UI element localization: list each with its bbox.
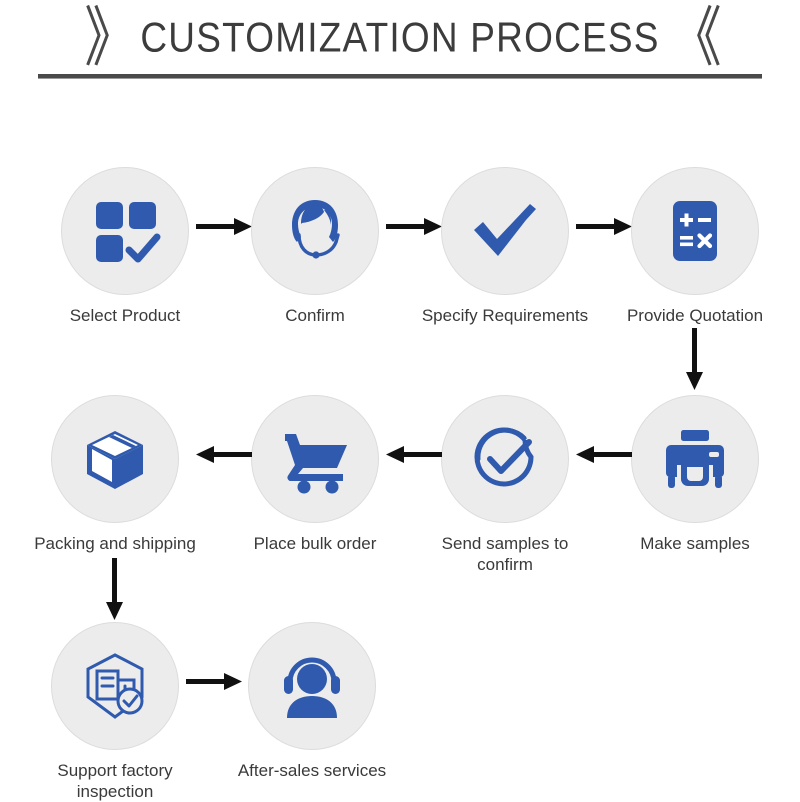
step-label: Support factory inspection <box>25 760 205 802</box>
step-label: Packing and shipping <box>25 533 205 554</box>
flow-step-after-sales-services[interactable]: After-sales services <box>222 622 402 781</box>
flow-step-specify-requirements[interactable]: Specify Requirements <box>415 167 595 326</box>
step-label: Place bulk order <box>225 533 405 554</box>
step-label: Make samples <box>605 533 785 554</box>
connector-arrow-down-1 <box>683 328 707 390</box>
step-label: Provide Quotation <box>605 305 785 326</box>
connector-arrow-down-2 <box>103 558 127 620</box>
step-label: Select Product <box>35 305 215 326</box>
step-label: Send samples to confirm <box>415 533 595 575</box>
step-label: After-sales services <box>222 760 402 781</box>
shopping-cart-icon <box>277 421 353 497</box>
step-icon-circle <box>51 622 179 750</box>
flow-step-make-samples[interactable]: Make samples <box>605 395 785 554</box>
package-box-icon <box>75 419 155 499</box>
headset-person-icon <box>274 648 350 724</box>
flow-step-packing-and-shipping[interactable]: Packing and shipping <box>25 395 205 554</box>
grid-check-icon <box>88 194 162 268</box>
flow-step-place-bulk-order[interactable]: Place bulk order <box>225 395 405 554</box>
flow-step-confirm[interactable]: Confirm <box>225 167 405 326</box>
check-mark-icon <box>466 192 544 270</box>
step-icon-circle <box>248 622 376 750</box>
flow-step-select-product[interactable]: Select Product <box>35 167 215 326</box>
step-icon-circle <box>441 167 569 295</box>
process-flow: Select Product Confirm <box>0 0 800 800</box>
flow-step-provide-quotation[interactable]: Provide Quotation <box>605 167 785 326</box>
flow-step-send-samples-to-confirm[interactable]: Send samples to confirm <box>415 395 595 575</box>
step-label: Specify Requirements <box>415 305 595 326</box>
step-icon-circle <box>441 395 569 523</box>
step-icon-circle <box>251 167 379 295</box>
calculator-icon <box>659 195 731 267</box>
step-icon-circle <box>631 167 759 295</box>
step-icon-circle <box>251 395 379 523</box>
factory-inspection-icon <box>76 647 154 725</box>
step-icon-circle <box>51 395 179 523</box>
flow-step-support-factory-inspection[interactable]: Support factory inspection <box>25 622 205 802</box>
support-agent-icon <box>275 191 355 271</box>
check-circle-icon <box>467 421 543 497</box>
step-label: Confirm <box>225 305 405 326</box>
step-icon-circle <box>631 395 759 523</box>
printer-icon <box>657 421 733 497</box>
step-icon-circle <box>61 167 189 295</box>
